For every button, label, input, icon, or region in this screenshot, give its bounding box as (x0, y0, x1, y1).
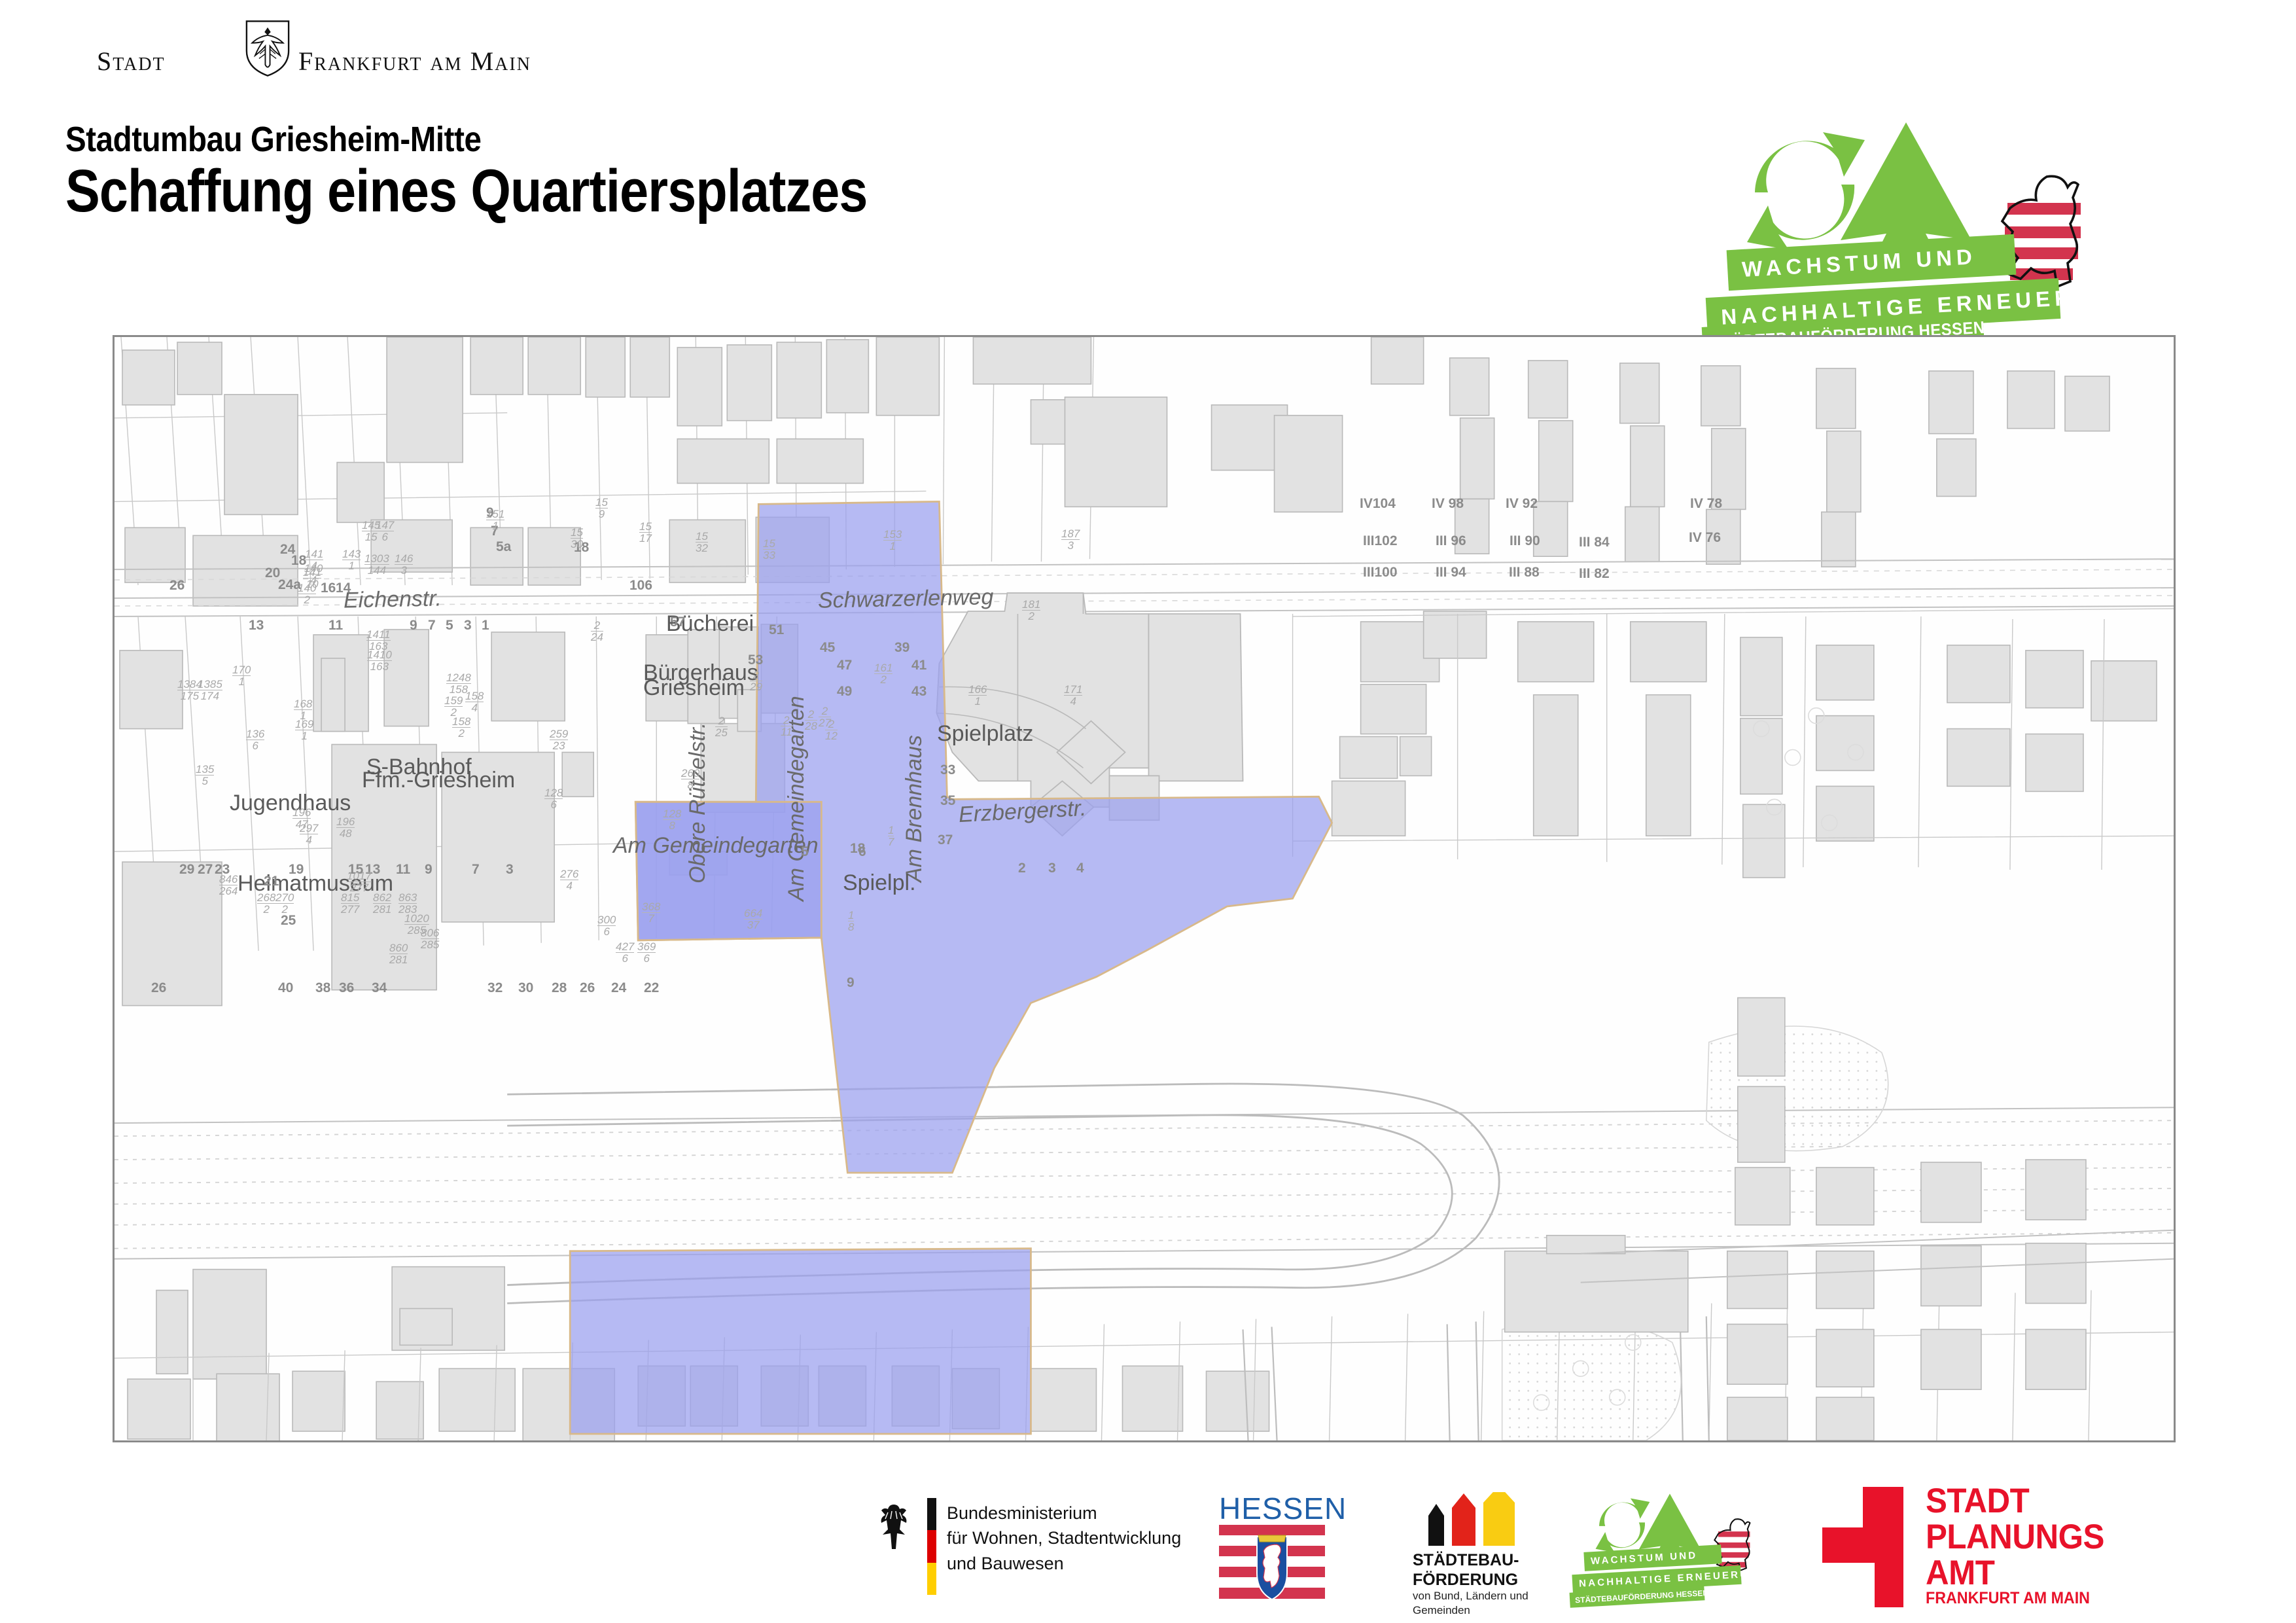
spa-line1: STADT (1926, 1483, 2104, 1519)
city-logo-word-stadt: Stadt (97, 46, 166, 77)
spa-line2: PLANUNGS (1926, 1519, 2104, 1555)
frankfurt-eagle-crest-icon (244, 20, 291, 77)
staedtebau-text: STÄDTEBAU- FÖRDERUNG (1413, 1551, 1519, 1590)
page-title: Schaffung eines Quartiersplatzes (65, 157, 868, 226)
city-logo-word-frankfurt: Frankfurt am Main (298, 46, 531, 77)
wachstum-erneuerung-logo-small: WACHSTUM UND NACHHALTIGE ERNEUERUNG STÄD… (1587, 1493, 1783, 1611)
poster-page: Stadt Frankfurt am Main Stadtumbau Gries… (0, 0, 2296, 1623)
stadtplanungsamt-mark-icon (1822, 1487, 1903, 1607)
hessen-wordmark: HESSEN (1219, 1491, 1347, 1526)
staedtebau-subtext: von Bund, Ländern und Gemeinden (1413, 1589, 1528, 1618)
bmwsb-line3: und Bauwesen (947, 1551, 1181, 1576)
three-houses-icon (1415, 1492, 1523, 1546)
staedtebau-sub2: Gemeinden (1413, 1603, 1528, 1618)
staedtebau-line1: STÄDTEBAU- (1413, 1551, 1519, 1571)
hessen-logo: HESSEN (1219, 1491, 1330, 1605)
hessen-flag-icon (1219, 1525, 1325, 1605)
stadtplanungsamt-logo: STADT PLANUNGS AMT FRANKFURT AM MAIN (1822, 1487, 2215, 1611)
hessen-lion-icon (1989, 166, 2087, 297)
bundesadler-icon (874, 1502, 914, 1553)
german-flag-icon (927, 1498, 936, 1595)
staedtebaufoerderung-logo: STÄDTEBAU- FÖRDERUNG von Bund, Ländern u… (1404, 1492, 1547, 1610)
spa-subline: FRANKFURT AM MAIN (1926, 1589, 2090, 1608)
staedtebau-sub1: von Bund, Ländern und (1413, 1589, 1528, 1603)
map-canvas (115, 337, 2174, 1440)
stadt-frankfurt-logo: Stadt Frankfurt am Main (97, 31, 529, 77)
stadtplanungsamt-wordmark: STADT PLANUNGS AMT (1926, 1483, 2104, 1591)
staedtebau-line2: FÖRDERUNG (1413, 1571, 1519, 1590)
poster-subtitle: Stadtumbau Griesheim-Mitte (65, 119, 481, 160)
bmwsb-text: Bundesministerium für Wohnen, Stadtentwi… (947, 1501, 1181, 1576)
bmwsb-line1: Bundesministerium (947, 1501, 1181, 1525)
spa-line3: AMT (1926, 1555, 2104, 1591)
bmwsb-logo: Bundesministerium für Wohnen, Stadtentwi… (874, 1495, 1174, 1600)
bmwsb-line2: für Wohnen, Stadtentwicklung (947, 1525, 1181, 1550)
cadastral-map[interactable]: Eichenstr. Schwarzerlenweg Am Gemeindega… (113, 335, 2176, 1442)
